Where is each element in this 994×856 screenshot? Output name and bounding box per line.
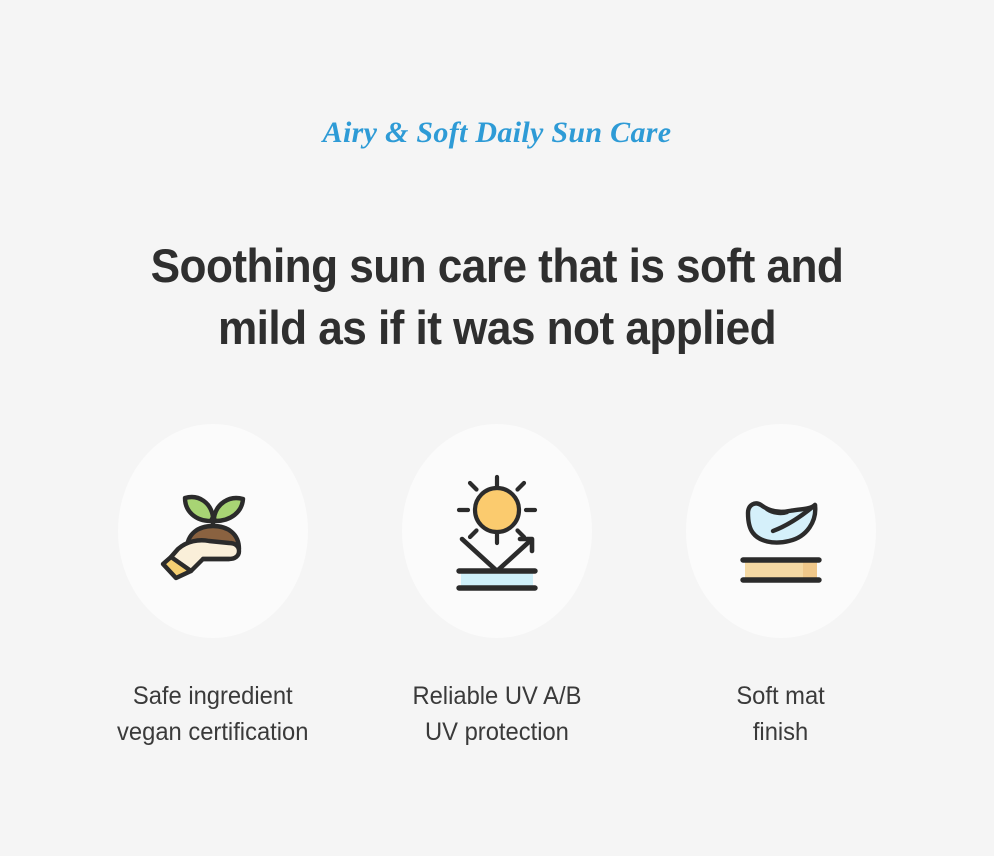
eyebrow-tagline: Airy & Soft Daily Sun Care bbox=[0, 116, 994, 150]
plant-in-hand-icon bbox=[143, 461, 283, 601]
caption-line-1: Soft mat bbox=[737, 678, 825, 714]
feature-item-soft-matte-finish: Soft mat finish bbox=[686, 424, 876, 750]
caption-line-2: finish bbox=[737, 714, 825, 750]
uv-protection-icon bbox=[427, 461, 567, 601]
feature-item-safe-ingredient: Safe ingredient vegan certification bbox=[118, 424, 308, 750]
page-title-line-2: mild as if it was not applied bbox=[30, 297, 964, 359]
promo-page: Airy & Soft Daily Sun Care Soothing sun … bbox=[0, 0, 994, 856]
caption-line-2: UV protection bbox=[413, 714, 582, 750]
caption-line-1: Reliable UV A/B bbox=[413, 678, 582, 714]
feature-caption-safe-ingredient: Safe ingredient vegan certification bbox=[117, 678, 308, 750]
feature-list: Safe ingredient vegan certification bbox=[0, 424, 994, 750]
page-title-line-1: Soothing sun care that is soft and bbox=[30, 235, 964, 297]
feature-caption-uv-protection: Reliable UV A/B UV protection bbox=[413, 678, 582, 750]
feather-matte-finish-icon bbox=[711, 461, 851, 601]
icon-circle-uv-protection bbox=[402, 424, 592, 638]
caption-line-2: vegan certification bbox=[117, 714, 308, 750]
icon-circle-soft-matte-finish bbox=[686, 424, 876, 638]
caption-line-1: Safe ingredient bbox=[117, 678, 308, 714]
feature-caption-soft-matte-finish: Soft mat finish bbox=[737, 678, 825, 750]
icon-circle-safe-ingredient bbox=[118, 424, 308, 638]
page-title: Soothing sun care that is soft and mild … bbox=[30, 235, 964, 359]
feature-item-uv-protection: Reliable UV A/B UV protection bbox=[402, 424, 592, 750]
